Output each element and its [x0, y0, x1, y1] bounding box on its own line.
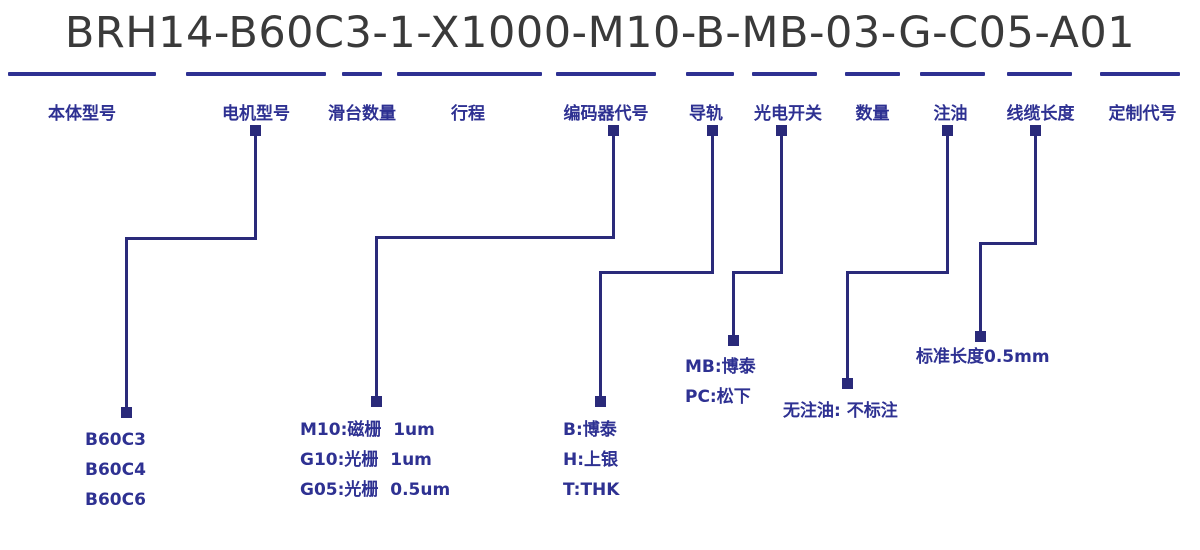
part-number-title: BRH14-B60C3-1-X1000-M10-B-MB-03-G-C05-A0… [0, 8, 1200, 58]
part-number-breakdown-diagram: BRH14-B60C3-1-X1000-M10-B-MB-03-G-C05-A0… [0, 0, 1200, 550]
leader-line-rail-v2 [599, 271, 602, 402]
leader-dot-photo-notes [728, 335, 739, 346]
note-rail: B:博泰 H:上银 T:THK [563, 415, 619, 505]
leader-line-rail-v1 [711, 133, 714, 272]
category-label-body-model: 本体型号 [8, 103, 156, 125]
leader-line-oiling-v2 [846, 271, 849, 384]
leader-line-oiling-v1 [946, 133, 949, 272]
segment-bar-cable-length [1007, 72, 1072, 76]
category-label-motor-model: 电机型号 [186, 103, 326, 125]
note-line: H:上银 [563, 445, 619, 475]
leader-line-photo-v1 [780, 133, 783, 272]
note-photo-switch: MB:博泰 PC:松下 [685, 352, 756, 412]
note-cable-length: 标准长度0.5mm [916, 342, 1050, 372]
leader-line-encoder-v1 [612, 133, 615, 237]
segment-bar-stroke [397, 72, 542, 76]
note-line: B60C3 [85, 425, 146, 455]
note-line: G05:光栅 0.5um [300, 475, 450, 505]
note-oiling: 无注油: 不标注 [783, 396, 898, 426]
leader-line-motor-model-h [125, 237, 257, 240]
leader-line-oiling-h [846, 271, 949, 274]
leader-dot-rail-notes [595, 396, 606, 407]
category-label-custom-code: 定制代号 [1095, 103, 1190, 125]
leader-line-encoder-v2 [375, 236, 378, 402]
note-line: 标准长度0.5mm [916, 342, 1050, 372]
leader-line-cable-v1 [1034, 133, 1037, 243]
note-line: PC:松下 [685, 382, 756, 412]
category-label-stroke: 行程 [428, 103, 508, 125]
category-label-cable-length: 线缆长度 [993, 103, 1088, 125]
category-label-slide-count: 滑台数量 [322, 103, 402, 125]
segment-bar-rail [686, 72, 734, 76]
category-label-encoder-code: 编码器代号 [551, 103, 661, 125]
leader-line-cable-v2 [979, 242, 982, 337]
note-line: G10:光栅 1um [300, 445, 450, 475]
leader-dot-cable-notes [975, 331, 986, 342]
segment-bar-body-model [8, 72, 156, 76]
note-line: M10:磁栅 1um [300, 415, 450, 445]
leader-line-photo-v2 [732, 271, 735, 341]
category-label-oiling: 注油 [918, 103, 983, 125]
leader-line-photo-h [732, 271, 783, 274]
segment-bar-oiling [920, 72, 985, 76]
leader-line-cable-h [979, 242, 1037, 245]
segment-bar-slide-count [342, 72, 382, 76]
category-label-quantity: 数量 [840, 103, 905, 125]
segment-bar-custom-code [1100, 72, 1180, 76]
leader-line-motor-model-v1 [254, 133, 257, 239]
leader-line-rail-h [599, 271, 714, 274]
note-line: MB:博泰 [685, 352, 756, 382]
note-line: B60C6 [85, 485, 146, 515]
leader-line-motor-model-v2 [125, 237, 128, 413]
note-line: B60C4 [85, 455, 146, 485]
segment-bar-photo-switch [752, 72, 817, 76]
segment-bar-motor-model [186, 72, 326, 76]
leader-dot-body-model [121, 407, 132, 418]
note-line: 无注油: 不标注 [783, 396, 898, 426]
note-line: B:博泰 [563, 415, 619, 445]
leader-line-encoder-h [375, 236, 615, 239]
category-label-rail: 导轨 [676, 103, 736, 125]
leader-dot-oiling-notes [842, 378, 853, 389]
note-line: T:THK [563, 475, 619, 505]
note-body-model: B60C3 B60C4 B60C6 [85, 425, 146, 515]
leader-dot-encoder-notes [371, 396, 382, 407]
segment-bar-encoder-code [556, 72, 656, 76]
note-encoder-code: M10:磁栅 1um G10:光栅 1um G05:光栅 0.5um [300, 415, 450, 505]
category-label-photo-switch: 光电开关 [743, 103, 833, 125]
segment-bar-quantity [845, 72, 900, 76]
